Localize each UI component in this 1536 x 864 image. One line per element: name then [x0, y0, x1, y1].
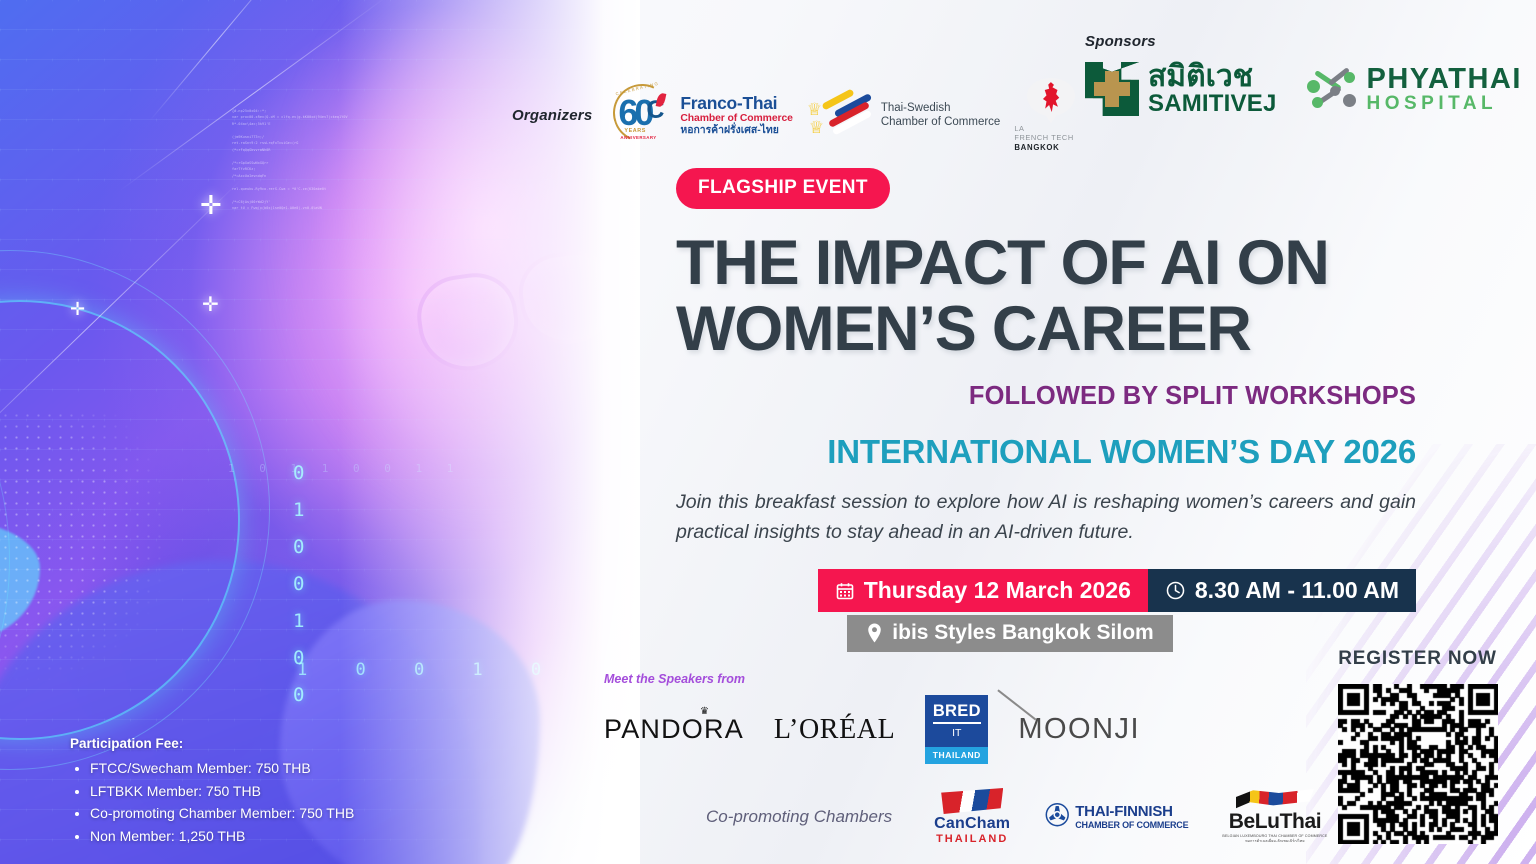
bred-line1: BRED — [933, 702, 981, 724]
rooster-icon — [1040, 82, 1062, 112]
phyathai-line2: HOSPITAL — [1367, 94, 1522, 114]
anniversary-text: ANNIVERSARY — [620, 135, 656, 140]
status-badge-flagship: FLAGSHIP EVENT — [676, 168, 890, 209]
subtitle-workshops: FOLLOWED BY SPLIT WORKSHOPS — [676, 382, 1416, 411]
organizers-label: Organizers — [512, 107, 592, 124]
sponsors-block: Sponsors สมิติเวช SAMITIVEJ — [1085, 33, 1522, 116]
organizer-logos: CELEBRATING 60 C YEARS ANNIVERSARY Franc… — [610, 78, 1088, 152]
lft-line2: FRENCH TECH — [1014, 134, 1088, 143]
logo-phyathai: PHYATHAI HOSPITAL — [1307, 64, 1522, 114]
register-now-label: REGISTER NOW — [1330, 648, 1505, 670]
logo-pandora: PANDORA ♛ — [604, 714, 744, 745]
event-date-text: Thursday 12 March 2026 — [864, 577, 1131, 604]
franco-thai-line1: Franco-Thai — [680, 94, 792, 114]
sparkle-icon-3: ✛ — [70, 300, 85, 318]
canada-thai-flag-icon — [941, 788, 1003, 814]
logo-thai-finnish: ✇ THAI-FINNISH CHAMBER OF COMMERCE — [1044, 803, 1188, 830]
molecule-node-5 — [1343, 94, 1356, 107]
bred-line3: THAILAND — [925, 747, 988, 764]
logo-beluthai: BeLuThai BELGIAN LUXEMBOURG THAI CHAMBER… — [1222, 789, 1327, 844]
copromoting-block: Co-promoting Chambers CanCham THAILAND ✇… — [706, 788, 1327, 845]
event-info-bars: Thursday 12 March 2026 8.30 AM - 11.00 A… — [676, 569, 1416, 652]
page-title: THE IMPACT OF AI ON WOMEN’S CAREER — [676, 231, 1416, 362]
thai-swedish-wordmark: Thai-Swedish Chamber of Commerce — [881, 101, 1001, 130]
sponsors-label: Sponsors — [1085, 33, 1522, 50]
samitivej-thai: สมิติเวช — [1148, 62, 1277, 92]
thai-finnish-wordmark: THAI-FINNISH CHAMBER OF COMMERCE — [1075, 803, 1188, 830]
title-line-1: THE IMPACT OF AI ON — [676, 231, 1416, 297]
sparkle-icon-1: ✛ — [200, 192, 222, 218]
register-block: REGISTER NOW — [1330, 648, 1505, 844]
medical-cross-icon — [1085, 62, 1139, 116]
event-time-bar: 8.30 AM - 11.00 AM — [1148, 569, 1416, 612]
bred-line2: IT — [925, 727, 988, 739]
thai-finnish-line2: CHAMBER OF COMMERCE — [1075, 820, 1188, 830]
copromoting-label: Co-promoting Chambers — [706, 807, 892, 827]
logo-thai-swedish: ♕ ♕ Thai-Swedish Chamber of Commerce — [807, 90, 1001, 140]
la-french-tech-wordmark: LA FRENCH TECH BANGKOK — [1014, 125, 1088, 152]
calendar-icon — [835, 581, 855, 601]
event-date-bar: Thursday 12 March 2026 — [818, 569, 1148, 612]
logo-samitivej: สมิติเวช SAMITIVEJ — [1085, 62, 1277, 116]
speakers-label: Meet the Speakers from — [604, 672, 1164, 686]
samitivej-latin: SAMITIVEJ — [1148, 92, 1277, 116]
crown-icon-2: ♕ — [809, 118, 824, 138]
crown-icon-1: ♕ — [807, 100, 822, 120]
list-item: FTCC/Swecham Member: 750 THB — [90, 757, 354, 780]
date-time-row: Thursday 12 March 2026 8.30 AM - 11.00 A… — [676, 569, 1416, 612]
years-text: YEARS — [624, 128, 646, 134]
sponsor-logos: สมิติเวช SAMITIVEJ PHYATHAI HOSPITAL — [1085, 62, 1522, 116]
speaker-logos: PANDORA ♛ L’ORÉAL BRED IT THAILAND MOONJ… — [604, 695, 1164, 764]
molecule-icon — [1307, 66, 1357, 112]
speakers-block: Meet the Speakers from PANDORA ♛ L’ORÉAL… — [604, 672, 1164, 764]
list-item: LFTBKK Member: 750 THB — [90, 780, 354, 803]
franco-thai-wordmark: Franco-Thai Chamber of Commerce หอการค้า… — [680, 94, 792, 137]
event-time-text: 8.30 AM - 11.00 AM — [1195, 577, 1399, 604]
qr-code[interactable] — [1338, 684, 1498, 844]
participation-fee-block: Participation Fee: FTCC/Swecham Member: … — [70, 736, 354, 848]
participation-fee-list: FTCC/Swecham Member: 750 THB LFTBKK Memb… — [90, 757, 354, 848]
logo-bred-it: BRED IT THAILAND — [925, 695, 988, 764]
organizers-block: Organizers CELEBRATING 60 C YEARS ANNIVE… — [512, 78, 1088, 152]
thai-swedish-mark: ♕ ♕ — [807, 90, 877, 140]
clock-icon — [1165, 580, 1186, 601]
franco-thai-line3: หอการค้าฝรั่งเศส-ไทย — [680, 125, 792, 137]
event-description: Join this breakfast session to explore h… — [676, 487, 1416, 547]
molecule-node-1 — [1307, 80, 1320, 93]
phyathai-wordmark: PHYATHAI HOSPITAL — [1367, 64, 1522, 114]
beluthai-line3: หอการค้าเบลเยี่ยม-ลักเซมเบิร์ก/ไทย — [1222, 838, 1327, 844]
pandora-wordmark: PANDORA — [604, 714, 744, 744]
molecule-node-4 — [1344, 72, 1355, 83]
lft-line3: BANGKOK — [1014, 143, 1088, 152]
event-venue-bar: ibis Styles Bangkok Silom — [847, 615, 1172, 652]
moonji-wordmark: MOONJI — [1018, 713, 1140, 745]
cancham-line2: THAILAND — [934, 833, 1010, 845]
belgium-thai-flag-icon — [1236, 789, 1314, 809]
location-pin-icon — [866, 623, 883, 643]
event-venue-text: ibis Styles Bangkok Silom — [892, 621, 1153, 645]
franco-thai-mark: CELEBRATING 60 C YEARS ANNIVERSARY — [610, 82, 674, 148]
list-item: Co-promoting Chamber Member: 750 THB — [90, 802, 354, 825]
map-pin-icon — [1027, 78, 1075, 116]
cross-svg — [1085, 62, 1139, 116]
molecule-node-3 — [1330, 86, 1340, 96]
participation-fee-title: Participation Fee: — [70, 736, 354, 751]
venue-row: ibis Styles Bangkok Silom — [676, 615, 1416, 652]
thai-swedish-line1: Thai-Swedish — [881, 101, 1001, 115]
pandora-crown-icon: ♛ — [700, 706, 710, 717]
phyathai-line1: PHYATHAI — [1367, 64, 1522, 94]
cancham-line1: CanCham — [934, 815, 1010, 833]
logo-loreal: L’ORÉAL — [774, 714, 895, 746]
franco-thai-line2: Chamber of Commerce — [680, 113, 792, 125]
moonji-slash-icon — [998, 689, 1037, 720]
thai-swedish-line2: Chamber of Commerce — [881, 115, 1001, 129]
logo-moonji: MOONJI — [1018, 713, 1140, 746]
swirl-icon: ✇ — [1044, 804, 1070, 829]
bred-top-block: BRED IT — [925, 695, 988, 747]
logo-cancham: CanCham THAILAND — [934, 788, 1010, 845]
logo-la-french-tech: LA FRENCH TECH BANGKOK — [1014, 78, 1088, 152]
thai-finnish-line1: THAI-FINNISH — [1075, 803, 1188, 820]
title-line-2: WOMEN’S CAREER — [676, 297, 1416, 363]
sparkle-icon-2: ✛ — [202, 295, 219, 315]
samitivej-wordmark: สมิติเวช SAMITIVEJ — [1148, 62, 1277, 116]
logo-franco-thai: CELEBRATING 60 C YEARS ANNIVERSARY Franc… — [610, 82, 792, 148]
main-content: FLAGSHIP EVENT THE IMPACT OF AI ON WOMEN… — [676, 168, 1416, 652]
molecule-node-2 — [1312, 97, 1323, 108]
subtitle-international-womens-day: INTERNATIONAL WOMEN’S DAY 2026 — [676, 433, 1416, 471]
list-item: Non Member: 1,250 THB — [90, 825, 354, 848]
beluthai-line1: BeLuThai — [1222, 810, 1327, 834]
copromoting-logos: CanCham THAILAND ✇ THAI-FINNISH CHAMBER … — [934, 788, 1327, 845]
